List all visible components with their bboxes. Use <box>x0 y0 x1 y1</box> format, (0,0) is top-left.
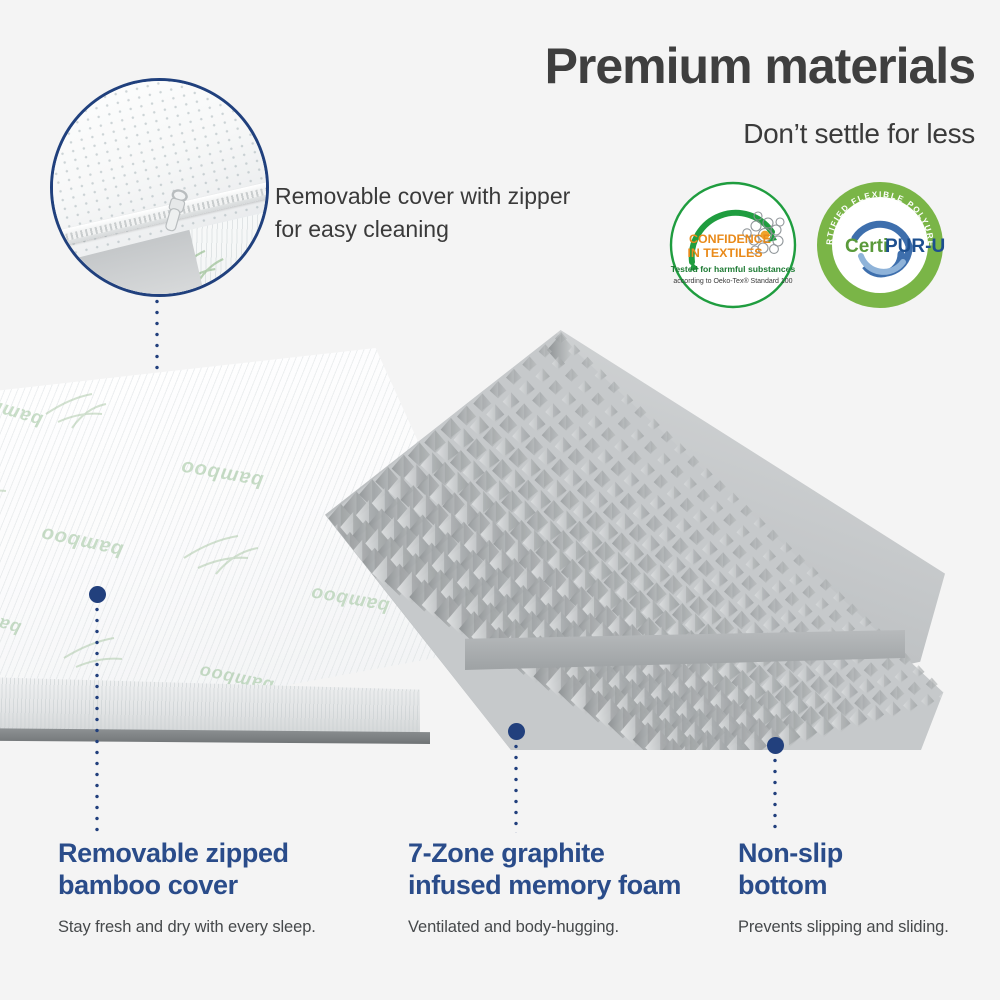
callout-dot-nonslip <box>767 737 784 754</box>
bamboo-leaf-icon <box>178 520 288 582</box>
callout-dot-cover <box>89 586 106 603</box>
feature-title-line1: Removable zipped <box>58 838 289 868</box>
feature-removable-cover: Removable zipped bamboo cover Stay fresh… <box>58 838 378 937</box>
connector-line-foam <box>514 741 518 833</box>
foam-peaks-graphic: {"rows":15,"cols":26} <box>325 330 945 750</box>
feature-description: Ventilated and body-hugging. <box>408 918 708 937</box>
certification-badges: CONFIDENCE IN TEXTILES Tested for harmfu… <box>660 180 980 310</box>
product-image: bamboo bamboo bamboo bamboo bamboo bambo… <box>0 320 1000 790</box>
feature-title-line1: 7-Zone graphite <box>408 838 605 868</box>
oeko-sub-line1: Tested for harmful substances <box>671 264 796 274</box>
infographic-canvas: Premium materials Don’t settle for less <box>0 0 1000 1000</box>
oeko-tex-badge: CONFIDENCE IN TEXTILES Tested for harmfu… <box>668 180 798 310</box>
feature-title-line1: Non-slip <box>738 838 843 868</box>
certipur-wordmark-certi: Certi <box>845 236 888 257</box>
certipur-us-badge: CONTAINS CERTIFIED FLEXIBLE POLYURETHANE… <box>815 180 945 310</box>
connector-line-cover <box>95 604 99 832</box>
egg-crate-memory-foam: {"rows":15,"cols":26} <box>325 330 945 750</box>
certipur-wordmark-purus: PUR-US <box>885 236 945 257</box>
feature-title-line2: infused memory foam <box>408 870 681 900</box>
oeko-title-line1: CONFIDENCE <box>689 232 771 246</box>
zipper-callout-text: Removable cover with zipper for easy cle… <box>275 180 605 245</box>
feature-description: Prevents slipping and sliding. <box>738 918 988 937</box>
bamboo-leaf-icon <box>40 380 130 435</box>
oeko-tex-badge-graphic: CONFIDENCE IN TEXTILES Tested for harmfu… <box>668 180 798 310</box>
feature-title-line2: bottom <box>738 870 827 900</box>
feature-description: Stay fresh and dry with every sleep. <box>58 918 378 937</box>
feature-non-slip-bottom: Non-slip bottom Prevents slipping and sl… <box>738 838 988 937</box>
feature-title: Non-slip bottom <box>738 838 988 902</box>
feature-title: 7-Zone graphite infused memory foam <box>408 838 708 902</box>
feature-title: Removable zipped bamboo cover <box>58 838 378 902</box>
bamboo-leaf-icon <box>0 460 34 510</box>
callout-dot-foam <box>508 723 525 740</box>
feature-title-line2: bamboo cover <box>58 870 238 900</box>
connector-line-nonslip <box>773 755 777 833</box>
page-title: Premium materials <box>400 40 975 93</box>
oeko-title-line2: IN TEXTILES <box>687 246 762 260</box>
zipper-callout-line2: for easy cleaning <box>275 213 605 246</box>
zipper-callout-line1: Removable cover with zipper <box>275 180 605 213</box>
page-subtitle: Don’t settle for less <box>400 118 975 150</box>
bamboo-leaf-icon <box>58 622 158 680</box>
oeko-sub-line2: according to Oeko-Tex® Standard 100 <box>673 277 792 285</box>
zipper-detail-inset <box>50 78 269 297</box>
certipur-us-badge-graphic: CONTAINS CERTIFIED FLEXIBLE POLYURETHANE… <box>815 180 945 310</box>
feature-list: Removable zipped bamboo cover Stay fresh… <box>0 838 1000 978</box>
feature-graphite-foam: 7-Zone graphite infused memory foam Vent… <box>408 838 708 937</box>
